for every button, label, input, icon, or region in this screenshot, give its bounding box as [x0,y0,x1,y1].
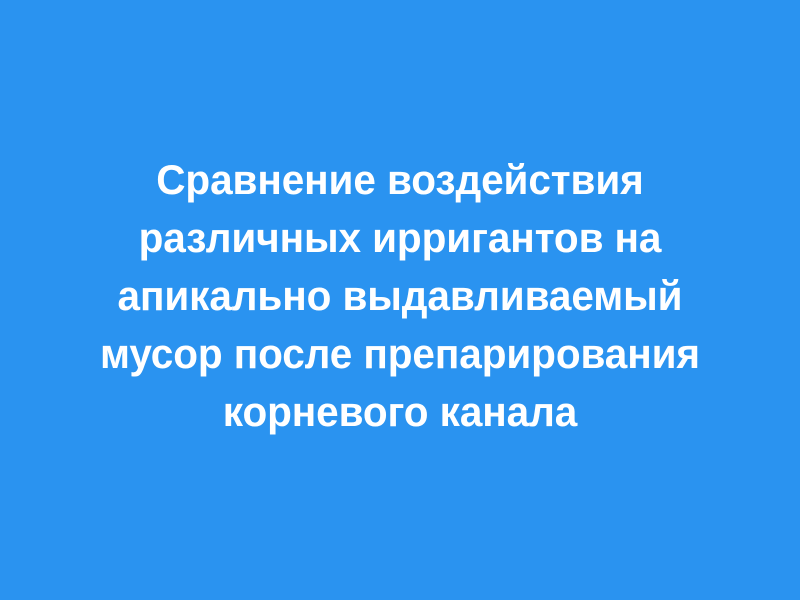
title-block: Сравнение воздействия различных ирригант… [66,151,734,441]
title-slide: Сравнение воздействия различных ирригант… [0,0,800,600]
slide-title: Сравнение воздействия различных ирригант… [78,151,723,441]
